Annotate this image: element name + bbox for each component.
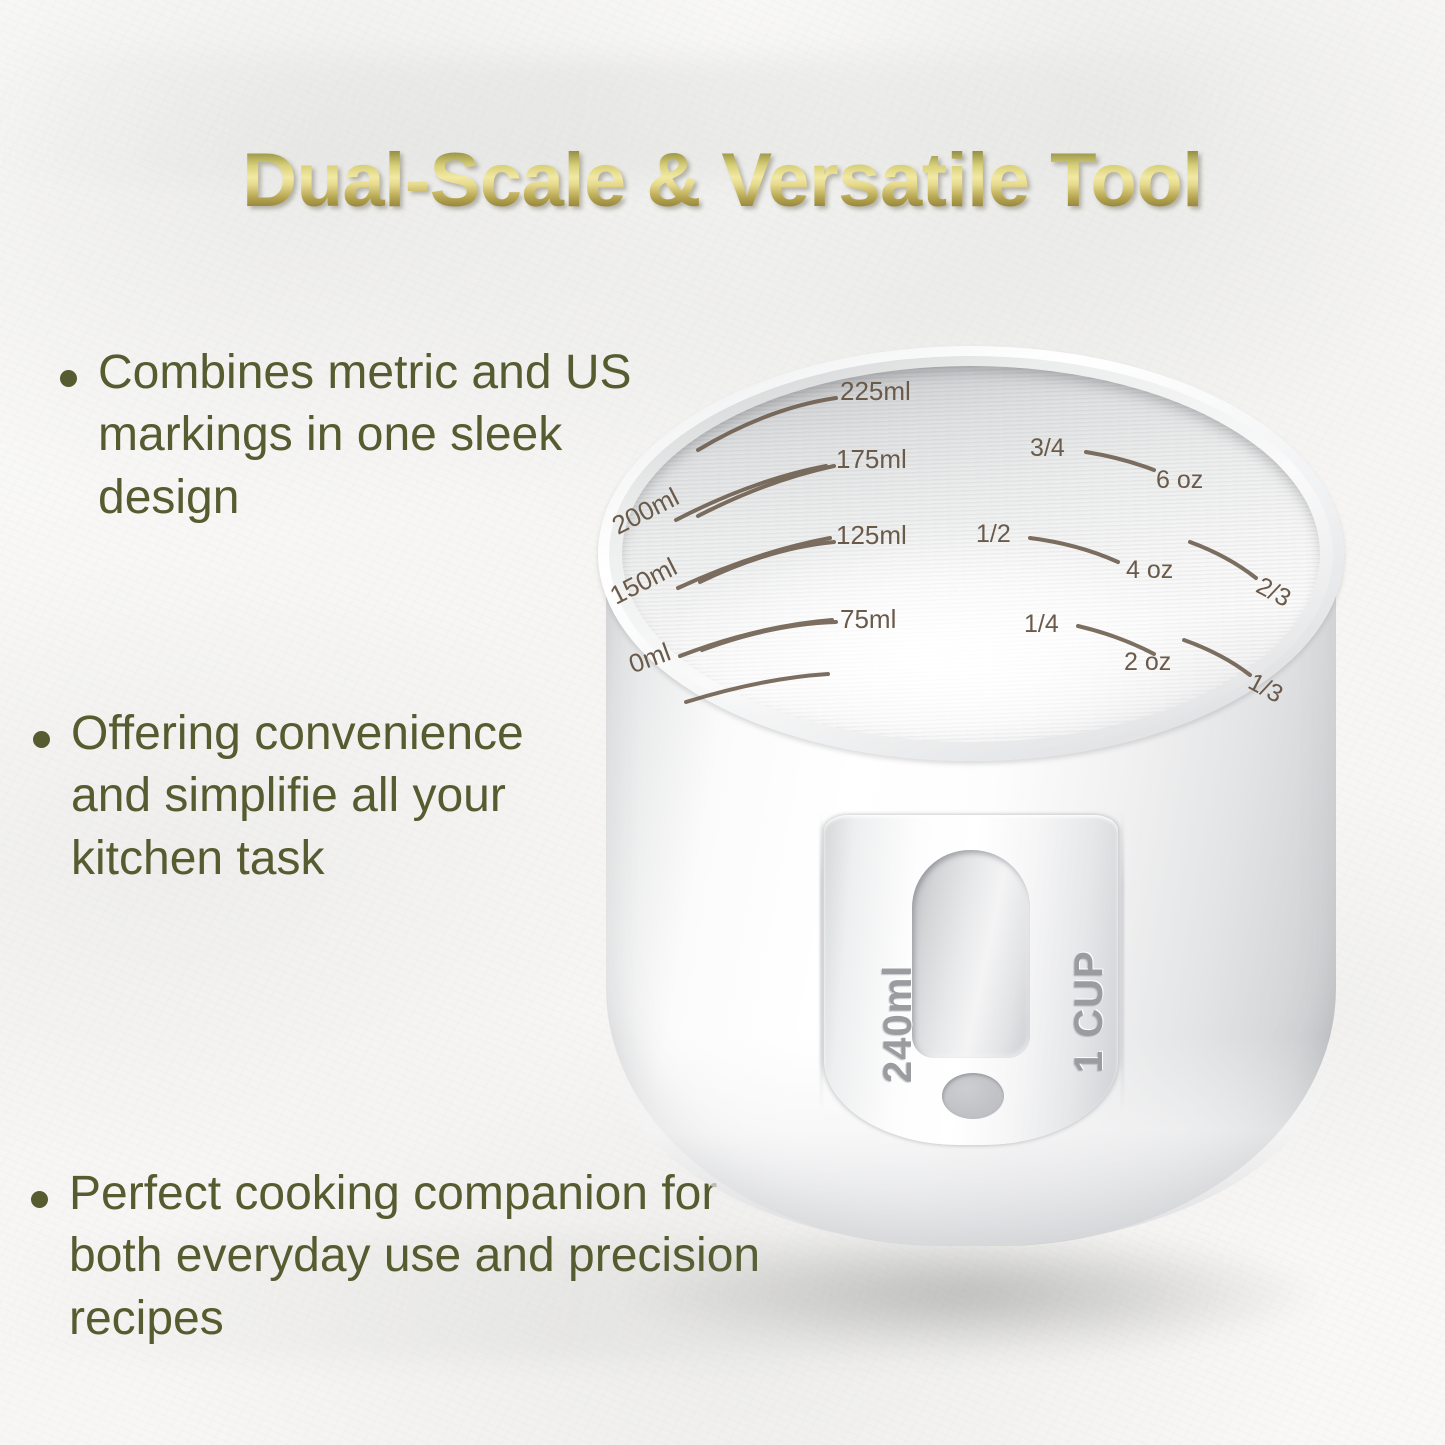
feature-bullet-1: Combines metric and US markings in one s… [60,342,640,529]
bullet-dot-icon [60,370,77,387]
measuring-cup-image: 240ml 1 CUP [578,330,1363,1340]
handle-metric-label: 240ml [876,965,921,1083]
handle-us-label: 1 CUP [1067,950,1112,1073]
feature-bullet-2-text: Offering convenience and simplifie all y… [71,703,613,890]
cup-drop-shadow [618,1234,1318,1354]
cup-handle-plate: 240ml 1 CUP [824,815,1118,1145]
feature-bullet-2: Offering convenience and simplifie all y… [33,703,613,890]
cup-body-seam-right [1121,810,1124,1110]
interior-gloss-highlight [678,539,1264,735]
cup-handle-slot [912,850,1030,1058]
bullet-dot-icon [31,1191,48,1208]
cup-handle-dimple [942,1073,1004,1119]
page-title: Dual-Scale & Versatile Tool [0,143,1445,219]
cup-body-seam-left [820,810,823,1110]
cup-interior-bowl [622,366,1320,742]
product-infographic: Dual-Scale & Versatile Tool Combines met… [0,0,1445,1445]
bullet-dot-icon [33,731,50,748]
feature-bullet-1-text: Combines metric and US markings in one s… [98,342,640,529]
